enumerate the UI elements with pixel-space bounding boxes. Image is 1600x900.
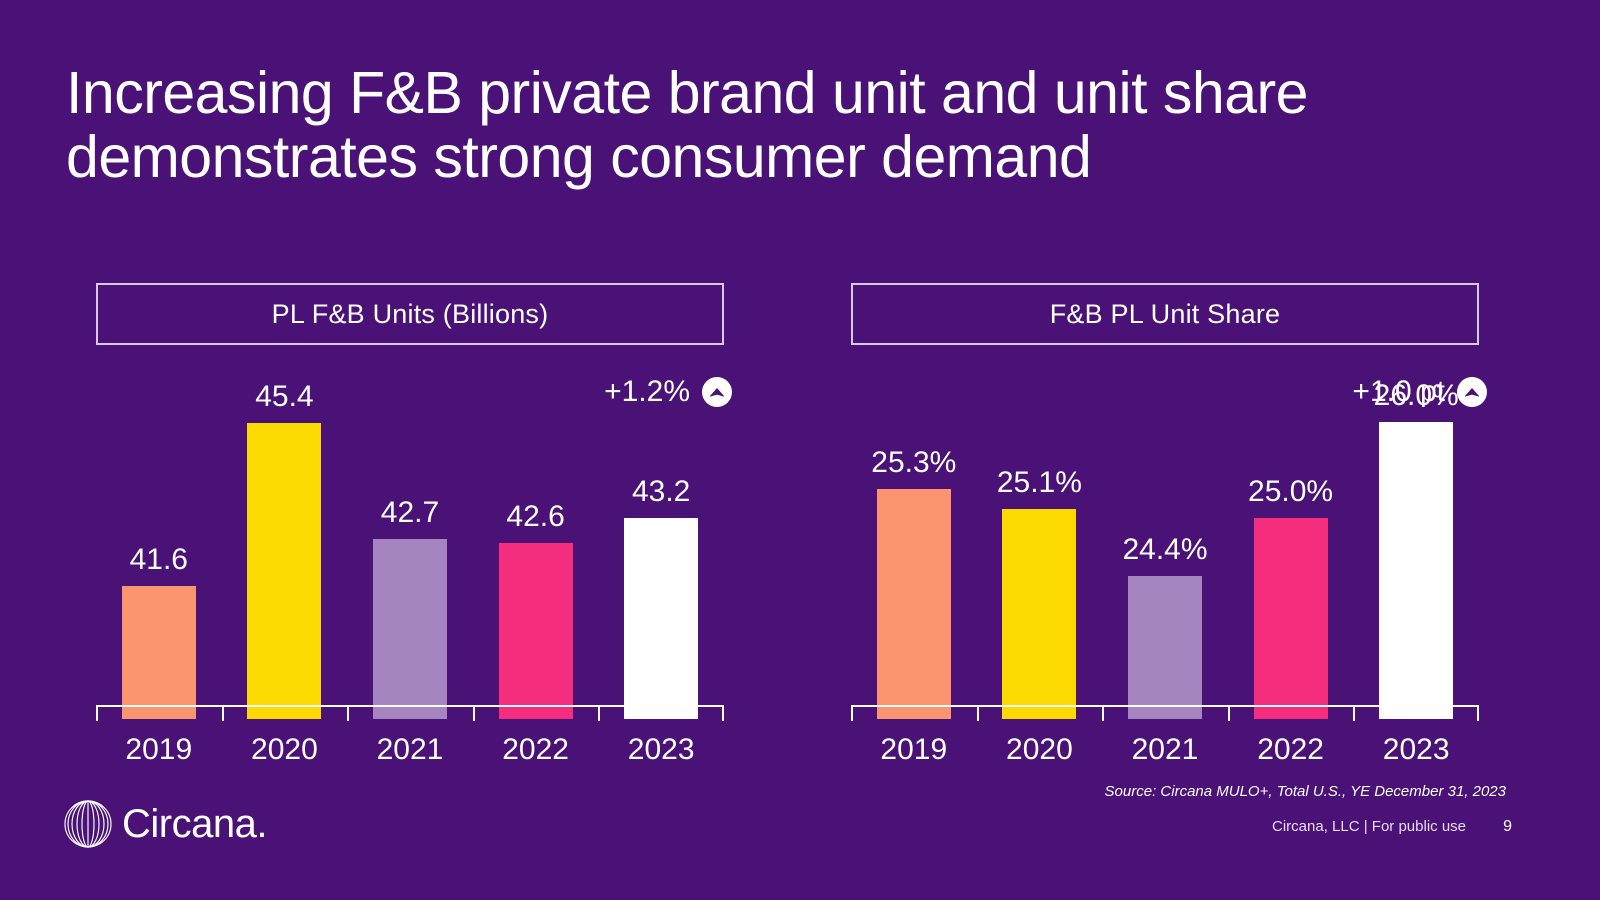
x-tick-label-2022: 2022 — [473, 733, 599, 767]
axis-line — [96, 705, 724, 707]
bar-value-label: 41.6 — [130, 543, 188, 577]
axis-tick — [222, 705, 224, 721]
bar-slot: 25.3% — [851, 389, 977, 719]
circana-globe-icon — [58, 794, 118, 854]
x-tick-label-2021: 2021 — [347, 733, 473, 767]
chart-panel-share: F&B PL Unit Share +1.0 pt 25.3%25.1%24.4… — [851, 283, 1479, 719]
bar-group-share: 25.3%25.1%24.4%25.0%26.0% — [851, 389, 1479, 719]
axis-tick — [851, 705, 853, 721]
bar-share-2022[interactable]: 25.0% — [1254, 518, 1328, 719]
x-tick-label-2019: 2019 — [96, 733, 222, 767]
chart-header-share-label: F&B PL Unit Share — [1050, 299, 1281, 330]
axis-tick — [1228, 705, 1230, 721]
axis-tick — [1353, 705, 1355, 721]
chart-panel-units: PL F&B Units (Billions) +1.2% 41.645.442… — [96, 283, 724, 719]
circana-logo-text: Circana. — [122, 804, 267, 844]
bar-value-label: 25.0% — [1248, 475, 1333, 509]
chart-header-share: F&B PL Unit Share — [851, 283, 1479, 345]
legal-note: Circana, LLC | For public use — [1272, 818, 1466, 835]
bar-share-2023[interactable]: 26.0% — [1379, 422, 1453, 719]
bar-slot: 42.7 — [347, 389, 473, 719]
axis-tick — [347, 705, 349, 721]
bar-value-label: 25.3% — [871, 446, 956, 480]
axis-line — [851, 705, 1479, 707]
x-tick-label-2023: 2023 — [1353, 733, 1479, 767]
x-axis-labels-units: 20192020202120222023 — [96, 733, 724, 767]
bar-share-2019[interactable]: 25.3% — [877, 489, 951, 719]
bar-group-units: 41.645.442.742.643.2 — [96, 389, 724, 719]
bar-value-label: 42.7 — [381, 496, 439, 530]
bar-value-label: 24.4% — [1122, 533, 1207, 567]
bar-slot: 25.1% — [977, 389, 1103, 719]
x-axis-labels-share: 20192020202120222023 — [851, 733, 1479, 767]
bar-value-label: 25.1% — [997, 466, 1082, 500]
bar-value-label: 45.4 — [255, 380, 313, 414]
plot-area-units: +1.2% 41.645.442.742.643.2 2019202020212… — [96, 389, 724, 719]
bar-value-label: 42.6 — [506, 500, 564, 534]
bar-slot: 26.0% — [1353, 389, 1479, 719]
page-title: Increasing F&B private brand unit and un… — [66, 62, 1526, 189]
axis-tick — [96, 705, 98, 721]
bar-value-label: 26.0% — [1374, 379, 1459, 413]
bar-slot: 24.4% — [1102, 389, 1228, 719]
bar-value-label: 43.2 — [632, 475, 690, 509]
bar-slot: 41.6 — [96, 389, 222, 719]
axis-tick — [1477, 705, 1479, 721]
x-tick-label-2022: 2022 — [1228, 733, 1354, 767]
bar-units-2022[interactable]: 42.6 — [499, 543, 573, 719]
plot-area-share: +1.0 pt 25.3%25.1%24.4%25.0%26.0% 201920… — [851, 389, 1479, 719]
axis-tick — [722, 705, 724, 721]
bar-units-2020[interactable]: 45.4 — [247, 423, 321, 719]
axis-tick — [598, 705, 600, 721]
chart-header-units: PL F&B Units (Billions) — [96, 283, 724, 345]
bar-share-2020[interactable]: 25.1% — [1002, 509, 1076, 719]
axis-tick — [977, 705, 979, 721]
bar-slot: 42.6 — [473, 389, 599, 719]
source-note: Source: Circana MULO+, Total U.S., YE De… — [1105, 783, 1506, 800]
x-axis-units — [96, 705, 724, 721]
x-tick-label-2023: 2023 — [598, 733, 724, 767]
x-tick-label-2021: 2021 — [1102, 733, 1228, 767]
chart-header-units-label: PL F&B Units (Billions) — [272, 299, 549, 330]
x-axis-share — [851, 705, 1479, 721]
axis-tick — [473, 705, 475, 721]
x-tick-label-2019: 2019 — [851, 733, 977, 767]
bar-slot: 43.2 — [598, 389, 724, 719]
bar-slot: 25.0% — [1228, 389, 1354, 719]
bar-units-2023[interactable]: 43.2 — [624, 518, 698, 719]
bar-units-2021[interactable]: 42.7 — [373, 539, 447, 719]
page-number: 9 — [1503, 818, 1512, 836]
slide-canvas: Increasing F&B private brand unit and un… — [0, 0, 1600, 900]
x-tick-label-2020: 2020 — [977, 733, 1103, 767]
bar-slot: 45.4 — [222, 389, 348, 719]
circana-logo: Circana. — [58, 794, 267, 854]
bar-units-2019[interactable]: 41.6 — [122, 586, 196, 719]
bar-share-2021[interactable]: 24.4% — [1128, 576, 1202, 719]
axis-tick — [1102, 705, 1104, 721]
x-tick-label-2020: 2020 — [222, 733, 348, 767]
